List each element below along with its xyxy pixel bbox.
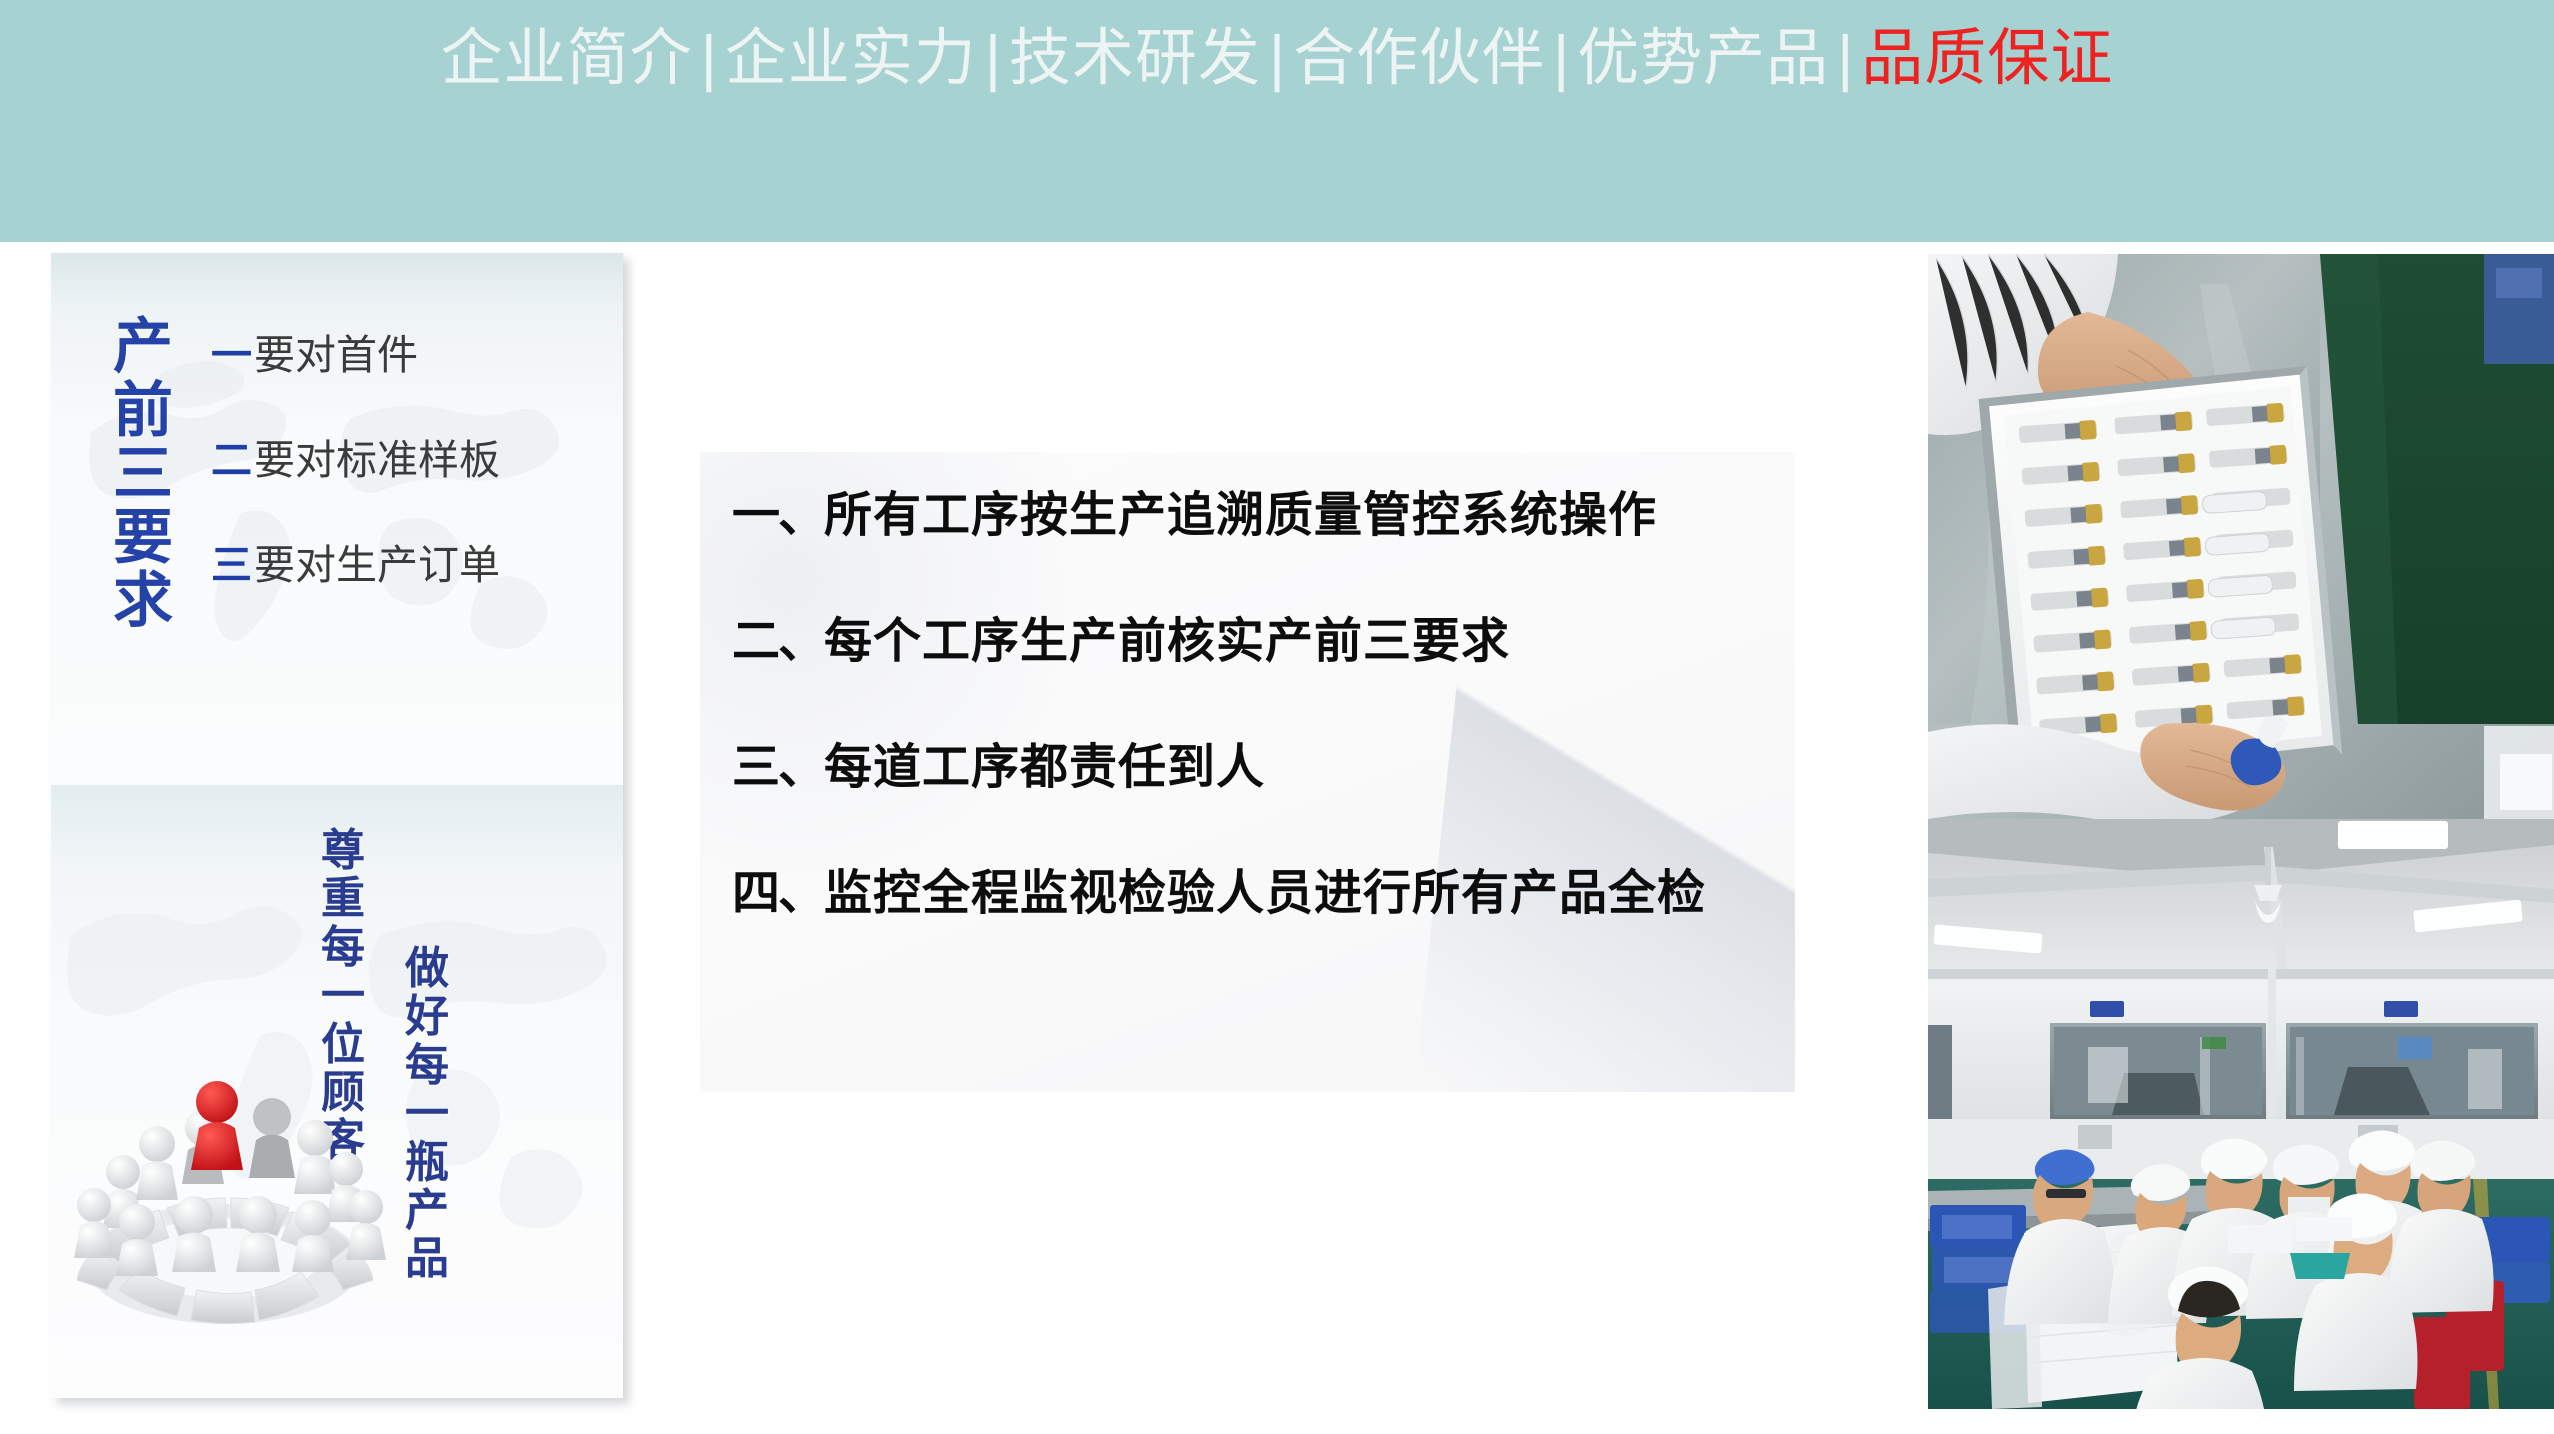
slogan-char: 一 xyxy=(403,1090,451,1138)
nav-item-company-intro[interactable]: 企业简介 xyxy=(435,28,699,90)
quality-rule-item: 一、所有工序按生产追溯质量管控系统操作 xyxy=(732,492,1772,540)
requirement-text: 要对生产订单 xyxy=(254,542,500,588)
slogan-char: 好 xyxy=(403,993,451,1041)
requirement-number: 三 xyxy=(211,542,252,588)
requirement-number: 二 xyxy=(211,437,252,483)
left-graphics-column: 产 前 三 要 求 一要对首件 二要对标准样板 三要对生产订单 xyxy=(51,253,623,1398)
nav-separator: | xyxy=(1267,28,1287,90)
customer-slogan-panel: 尊 重 每 一 位 顾 客 做 好 每 一 瓶 产 品 xyxy=(51,785,623,1398)
slogan-char: 品 xyxy=(403,1235,451,1283)
nav-item-company-strength[interactable]: 企业实力 xyxy=(719,28,983,90)
slogan-char: 尊 xyxy=(319,827,367,875)
slogan-char: 产 xyxy=(403,1187,451,1235)
rule-number: 四、 xyxy=(732,867,824,920)
crowd-figures-graphic xyxy=(59,1032,389,1352)
title-char: 产 xyxy=(106,315,180,379)
requirement-number: 一 xyxy=(211,332,252,378)
quality-rules-list: 一、所有工序按生产追溯质量管控系统操作 二、每个工序生产前核实产前三要求 三、每… xyxy=(732,492,1772,918)
cleanroom-packaging-line-photo xyxy=(1928,819,2554,1409)
pre-production-title: 产 前 三 要 求 xyxy=(106,315,180,633)
quality-rules-card: 一、所有工序按生产追溯质量管控系统操作 二、每个工序生产前核实产前三要求 三、每… xyxy=(700,452,1795,1092)
nav-separator: | xyxy=(1835,28,1855,90)
rule-text: 每道工序都责任到人 xyxy=(824,741,1265,794)
title-char: 要 xyxy=(106,506,180,570)
top-nav-bar: 企业简介 | 企业实力 | 技术研发 | 合作伙伴 | 优势产品 | 品质保证 xyxy=(0,0,2554,242)
title-char: 求 xyxy=(106,569,180,633)
slogan-char: 瓶 xyxy=(403,1139,451,1187)
nav-separator: | xyxy=(983,28,1003,90)
right-photo-column xyxy=(1928,254,2554,1409)
rule-text: 所有工序按生产追溯质量管控系统操作 xyxy=(824,489,1657,542)
quality-rule-item: 二、每个工序生产前核实产前三要求 xyxy=(732,618,1772,666)
slogan-quality-products: 做 好 每 一 瓶 产 品 xyxy=(403,945,451,1284)
rule-number: 三、 xyxy=(732,741,824,794)
slogan-char: 重 xyxy=(319,875,367,923)
slogan-char: 做 xyxy=(403,945,451,993)
quality-rule-item: 四、监控全程监视检验人员进行所有产品全检 xyxy=(732,870,1772,918)
requirement-text: 要对首件 xyxy=(254,332,418,378)
slogan-char: 一 xyxy=(319,972,367,1020)
title-char: 前 xyxy=(106,379,180,443)
rule-number: 一、 xyxy=(732,489,824,542)
requirement-item: 三要对生产订单 xyxy=(211,545,611,586)
nav-item-tech-rnd[interactable]: 技术研发 xyxy=(1003,28,1267,90)
requirement-list: 一要对首件 二要对标准样板 三要对生产订单 xyxy=(211,335,611,650)
rule-text: 每个工序生产前核实产前三要求 xyxy=(824,615,1510,668)
nav-item-partners[interactable]: 合作伙伴 xyxy=(1287,28,1551,90)
nav-item-quality-assurance[interactable]: 品质保证 xyxy=(1855,28,2119,90)
vial-tray-inspection-photo xyxy=(1928,254,2554,819)
slogan-char: 每 xyxy=(319,924,367,972)
rule-number: 二、 xyxy=(732,615,824,668)
nav-items-container: 企业简介 | 企业实力 | 技术研发 | 合作伙伴 | 优势产品 | 品质保证 xyxy=(0,0,2554,118)
pre-production-requirements-panel: 产 前 三 要 求 一要对首件 二要对标准样板 三要对生产订单 xyxy=(51,253,623,786)
title-char: 三 xyxy=(106,442,180,506)
slogan-char: 每 xyxy=(403,1042,451,1090)
requirement-item: 二要对标准样板 xyxy=(211,440,611,481)
requirement-item: 一要对首件 xyxy=(211,335,611,376)
nav-separator: | xyxy=(1551,28,1571,90)
quality-rule-item: 三、每道工序都责任到人 xyxy=(732,744,1772,792)
requirement-text: 要对标准样板 xyxy=(254,437,500,483)
nav-item-advantage-products[interactable]: 优势产品 xyxy=(1571,28,1835,90)
rule-text: 监控全程监视检验人员进行所有产品全检 xyxy=(824,867,1706,920)
nav-separator: | xyxy=(699,28,719,90)
